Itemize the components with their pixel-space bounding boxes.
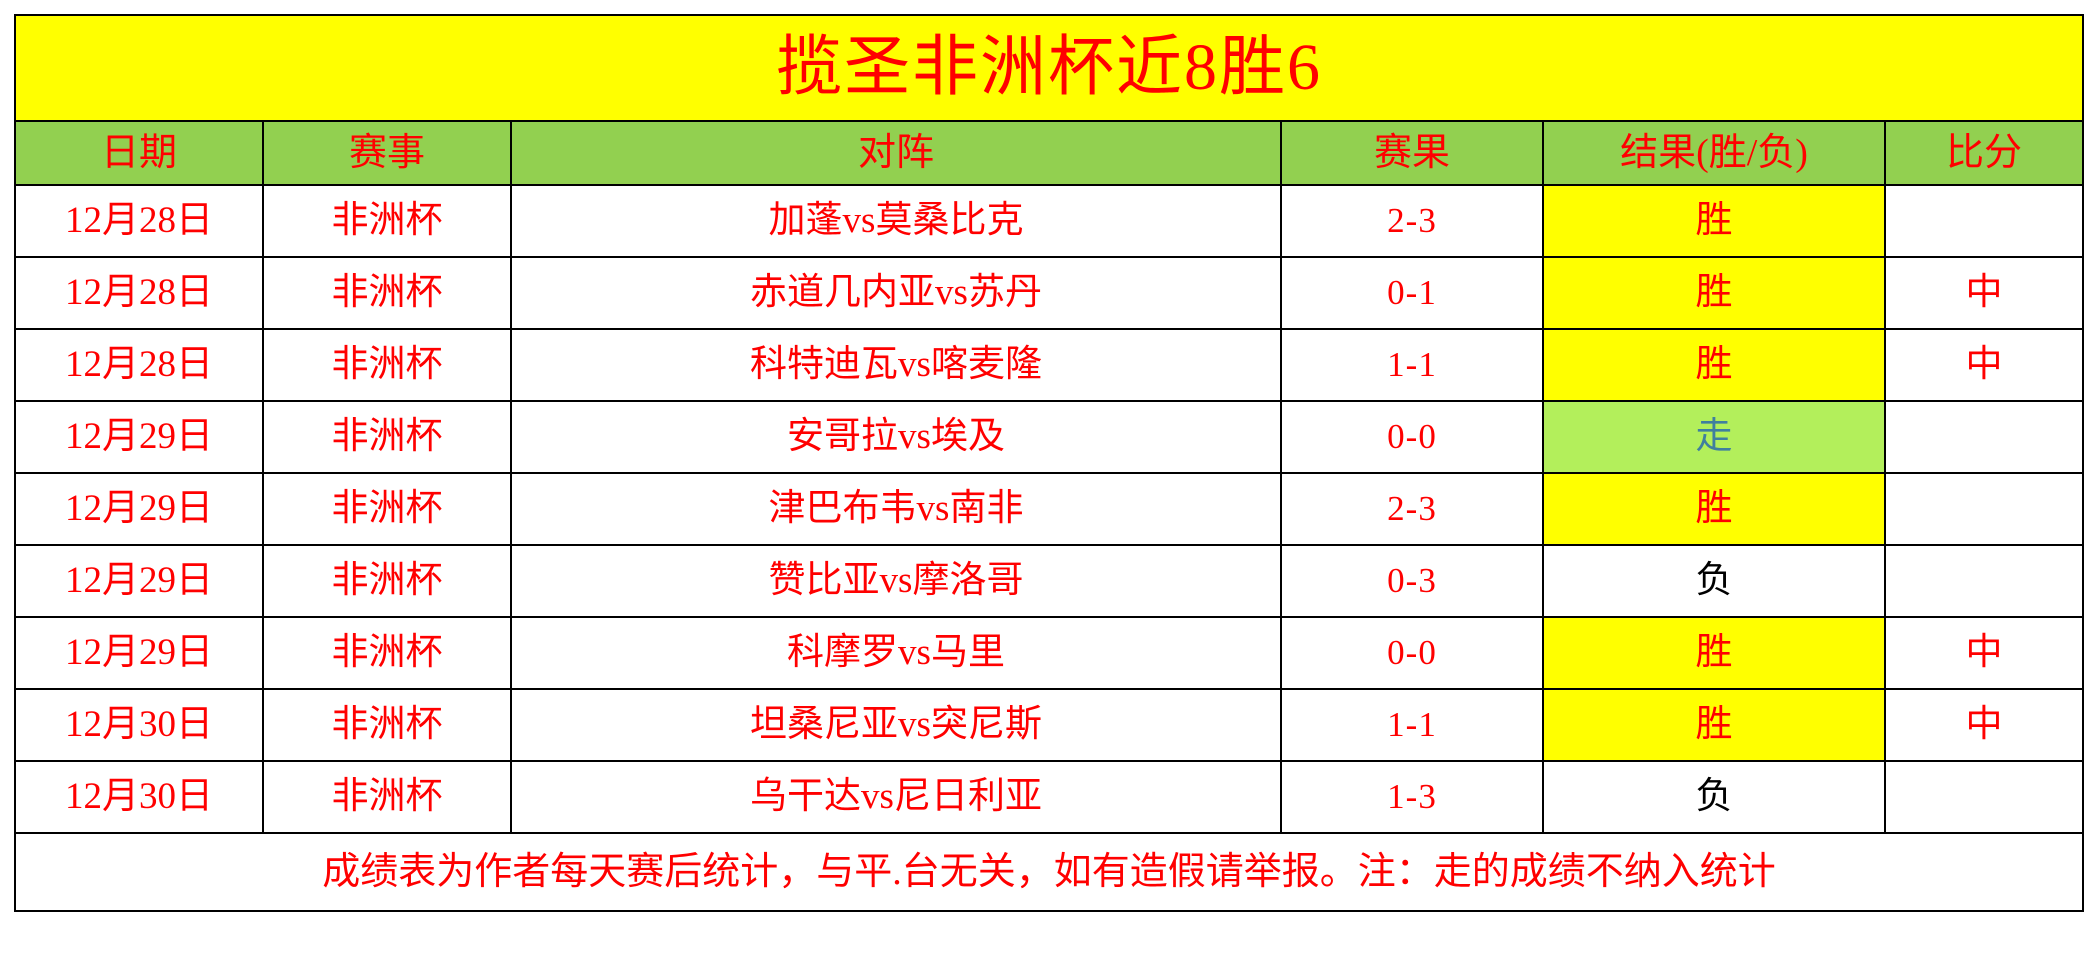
- cell-event: 非洲杯: [263, 257, 511, 329]
- cell-date: 12月29日: [15, 545, 263, 617]
- cell-event: 非洲杯: [263, 689, 511, 761]
- table-row: 12月28日非洲杯赤道几内亚vs苏丹0-1胜中: [15, 257, 2083, 329]
- cell-bifen: [1885, 545, 2083, 617]
- table-row: 12月30日非洲杯乌干达vs尼日利亚1-3负: [15, 761, 2083, 833]
- cell-event: 非洲杯: [263, 329, 511, 401]
- column-header-date: 日期: [15, 121, 263, 185]
- cell-date: 12月29日: [15, 401, 263, 473]
- cell-bifen: 中: [1885, 257, 2083, 329]
- title-row: 揽圣非洲杯近8胜6: [15, 15, 2083, 121]
- cell-date: 12月30日: [15, 761, 263, 833]
- table-row: 12月28日非洲杯科特迪瓦vs喀麦隆1-1胜中: [15, 329, 2083, 401]
- cell-bifen: [1885, 185, 2083, 257]
- cell-match: 津巴布韦vs南非: [511, 473, 1281, 545]
- table-header-row: 日期 赛事 对阵 赛果 结果(胜/负) 比分: [15, 121, 2083, 185]
- cell-score: 1-3: [1281, 761, 1543, 833]
- cell-match: 科特迪瓦vs喀麦隆: [511, 329, 1281, 401]
- table-row: 12月29日非洲杯津巴布韦vs南非2-3胜: [15, 473, 2083, 545]
- cell-match: 乌干达vs尼日利亚: [511, 761, 1281, 833]
- results-table: 揽圣非洲杯近8胜6 日期 赛事 对阵 赛果 结果(胜/负) 比分 12月28日非…: [14, 14, 2084, 912]
- table-row: 12月29日非洲杯赞比亚vs摩洛哥0-3负: [15, 545, 2083, 617]
- cell-score: 2-3: [1281, 473, 1543, 545]
- cell-bifen: 中: [1885, 689, 2083, 761]
- page-title: 揽圣非洲杯近8胜6: [15, 15, 2083, 121]
- footer-note: 成绩表为作者每天赛后统计，与平.台无关，如有造假请举报。注：走的成绩不纳入统计: [15, 833, 2083, 911]
- cell-bifen: [1885, 473, 2083, 545]
- cell-date: 12月28日: [15, 329, 263, 401]
- status-badge-result: 胜: [1543, 329, 1885, 401]
- spreadsheet-canvas: 揽圣非洲杯近8胜6 日期 赛事 对阵 赛果 结果(胜/负) 比分 12月28日非…: [0, 0, 2096, 970]
- cell-event: 非洲杯: [263, 401, 511, 473]
- table-row: 12月28日非洲杯加蓬vs莫桑比克2-3胜: [15, 185, 2083, 257]
- cell-score: 0-0: [1281, 401, 1543, 473]
- cell-event: 非洲杯: [263, 185, 511, 257]
- column-header-bifen: 比分: [1885, 121, 2083, 185]
- cell-score: 0-0: [1281, 617, 1543, 689]
- status-badge-result: 胜: [1543, 185, 1885, 257]
- status-badge-result: 胜: [1543, 473, 1885, 545]
- status-badge-result: 胜: [1543, 689, 1885, 761]
- table-row: 12月29日非洲杯安哥拉vs埃及0-0走: [15, 401, 2083, 473]
- cell-match: 加蓬vs莫桑比克: [511, 185, 1281, 257]
- table-row: 12月29日非洲杯科摩罗vs马里0-0胜中: [15, 617, 2083, 689]
- cell-event: 非洲杯: [263, 545, 511, 617]
- cell-score: 1-1: [1281, 329, 1543, 401]
- cell-date: 12月29日: [15, 473, 263, 545]
- column-header-result: 结果(胜/负): [1543, 121, 1885, 185]
- cell-bifen: 中: [1885, 329, 2083, 401]
- status-badge-result: 走: [1543, 401, 1885, 473]
- cell-match: 赞比亚vs摩洛哥: [511, 545, 1281, 617]
- footer-note-row: 成绩表为作者每天赛后统计，与平.台无关，如有造假请举报。注：走的成绩不纳入统计: [15, 833, 2083, 911]
- cell-event: 非洲杯: [263, 761, 511, 833]
- cell-date: 12月29日: [15, 617, 263, 689]
- cell-event: 非洲杯: [263, 473, 511, 545]
- status-badge-result: 胜: [1543, 257, 1885, 329]
- cell-score: 0-3: [1281, 545, 1543, 617]
- cell-score: 1-1: [1281, 689, 1543, 761]
- status-badge-result: 负: [1543, 545, 1885, 617]
- cell-event: 非洲杯: [263, 617, 511, 689]
- cell-bifen: [1885, 761, 2083, 833]
- cell-match: 安哥拉vs埃及: [511, 401, 1281, 473]
- cell-match: 赤道几内亚vs苏丹: [511, 257, 1281, 329]
- column-header-score: 赛果: [1281, 121, 1543, 185]
- table-row: 12月30日非洲杯坦桑尼亚vs突尼斯1-1胜中: [15, 689, 2083, 761]
- column-header-match: 对阵: [511, 121, 1281, 185]
- column-header-event: 赛事: [263, 121, 511, 185]
- cell-date: 12月28日: [15, 185, 263, 257]
- cell-bifen: 中: [1885, 617, 2083, 689]
- cell-score: 2-3: [1281, 185, 1543, 257]
- cell-score: 0-1: [1281, 257, 1543, 329]
- cell-match: 坦桑尼亚vs突尼斯: [511, 689, 1281, 761]
- cell-bifen: [1885, 401, 2083, 473]
- cell-date: 12月28日: [15, 257, 263, 329]
- cell-date: 12月30日: [15, 689, 263, 761]
- status-badge-result: 胜: [1543, 617, 1885, 689]
- cell-match: 科摩罗vs马里: [511, 617, 1281, 689]
- status-badge-result: 负: [1543, 761, 1885, 833]
